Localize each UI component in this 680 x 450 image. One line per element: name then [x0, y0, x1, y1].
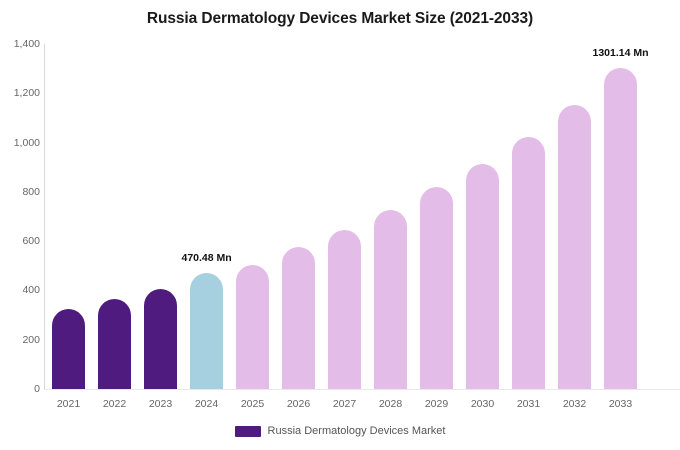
bar[interactable]: [98, 299, 131, 389]
x-axis-tick: 2022: [92, 398, 138, 410]
x-axis-tick: 2031: [506, 398, 552, 410]
bar[interactable]: [466, 164, 499, 389]
bar[interactable]: [282, 247, 315, 389]
x-axis-tick: 2029: [414, 398, 460, 410]
x-axis-tick: 2023: [138, 398, 184, 410]
bar[interactable]: [328, 230, 361, 389]
x-axis-tick: 2027: [322, 398, 368, 410]
y-axis-tick: 1,200: [0, 87, 40, 99]
x-axis-tick: 2030: [460, 398, 506, 410]
x-axis-tick: 2028: [368, 398, 414, 410]
bar[interactable]: [236, 265, 269, 389]
x-axis-tick: 2024: [184, 398, 230, 410]
y-axis-tick: 600: [0, 235, 40, 247]
y-axis-tick: 1,400: [0, 38, 40, 50]
bar[interactable]: [374, 210, 407, 389]
bar-series: 2021202220232024202520262027202820292030…: [44, 0, 680, 450]
bar[interactable]: [512, 137, 545, 389]
x-axis-tick: 2032: [552, 398, 598, 410]
bar[interactable]: [144, 289, 177, 389]
x-axis-tick: 2021: [46, 398, 92, 410]
y-axis-tick: 200: [0, 334, 40, 346]
y-axis-tick: 0: [0, 383, 40, 395]
y-axis-tick: 1,000: [0, 137, 40, 149]
bar[interactable]: [190, 273, 223, 389]
y-axis-tick: 800: [0, 186, 40, 198]
bar[interactable]: [52, 309, 85, 389]
chart-legend: Russia Dermatology Devices Market: [0, 425, 680, 437]
bar[interactable]: [558, 105, 591, 389]
chart-container: Russia Dermatology Devices Market Size (…: [0, 0, 680, 450]
legend-swatch: [235, 426, 261, 437]
data-label: 1301.14 Mn: [593, 47, 649, 59]
x-axis-tick: 2026: [276, 398, 322, 410]
y-axis-tick: 400: [0, 284, 40, 296]
bar[interactable]: [604, 68, 637, 389]
x-axis-tick: 2033: [598, 398, 644, 410]
bar[interactable]: [420, 187, 453, 389]
legend-label[interactable]: Russia Dermatology Devices Market: [268, 425, 446, 437]
data-label: 470.48 Mn: [182, 252, 232, 264]
y-axis-labels: 02004006008001,0001,2001,400: [0, 0, 40, 450]
x-axis-tick: 2025: [230, 398, 276, 410]
